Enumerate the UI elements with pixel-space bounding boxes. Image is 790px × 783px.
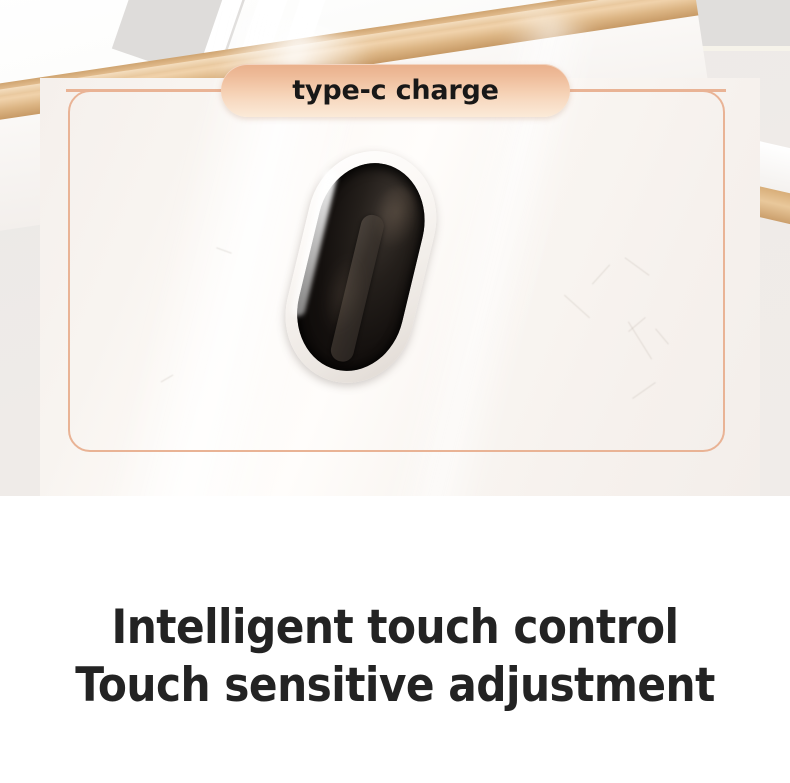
- surface-scratch: [632, 382, 656, 399]
- type-c-charge-badge: type-c charge: [221, 64, 570, 117]
- product-photo: type-c charge: [0, 0, 790, 496]
- caption-line-2: Touch sensitive adjustment: [40, 658, 751, 713]
- callout-frame-line-left: [66, 89, 226, 92]
- surface-scratch: [592, 265, 610, 285]
- surface-scratch: [564, 295, 590, 318]
- callout-frame-line-right: [566, 89, 726, 92]
- caption-section: Intelligent touch control Touch sensitiv…: [0, 496, 790, 783]
- product-feature-card: type-c charge Intelligent touch control …: [0, 0, 790, 783]
- caption-line-1: Intelligent touch control: [40, 600, 751, 655]
- surface-scratch: [628, 322, 652, 360]
- surface-scratch: [655, 329, 669, 345]
- type-c-charge-badge-label: type-c charge: [292, 77, 499, 104]
- surface-scratch: [625, 257, 650, 275]
